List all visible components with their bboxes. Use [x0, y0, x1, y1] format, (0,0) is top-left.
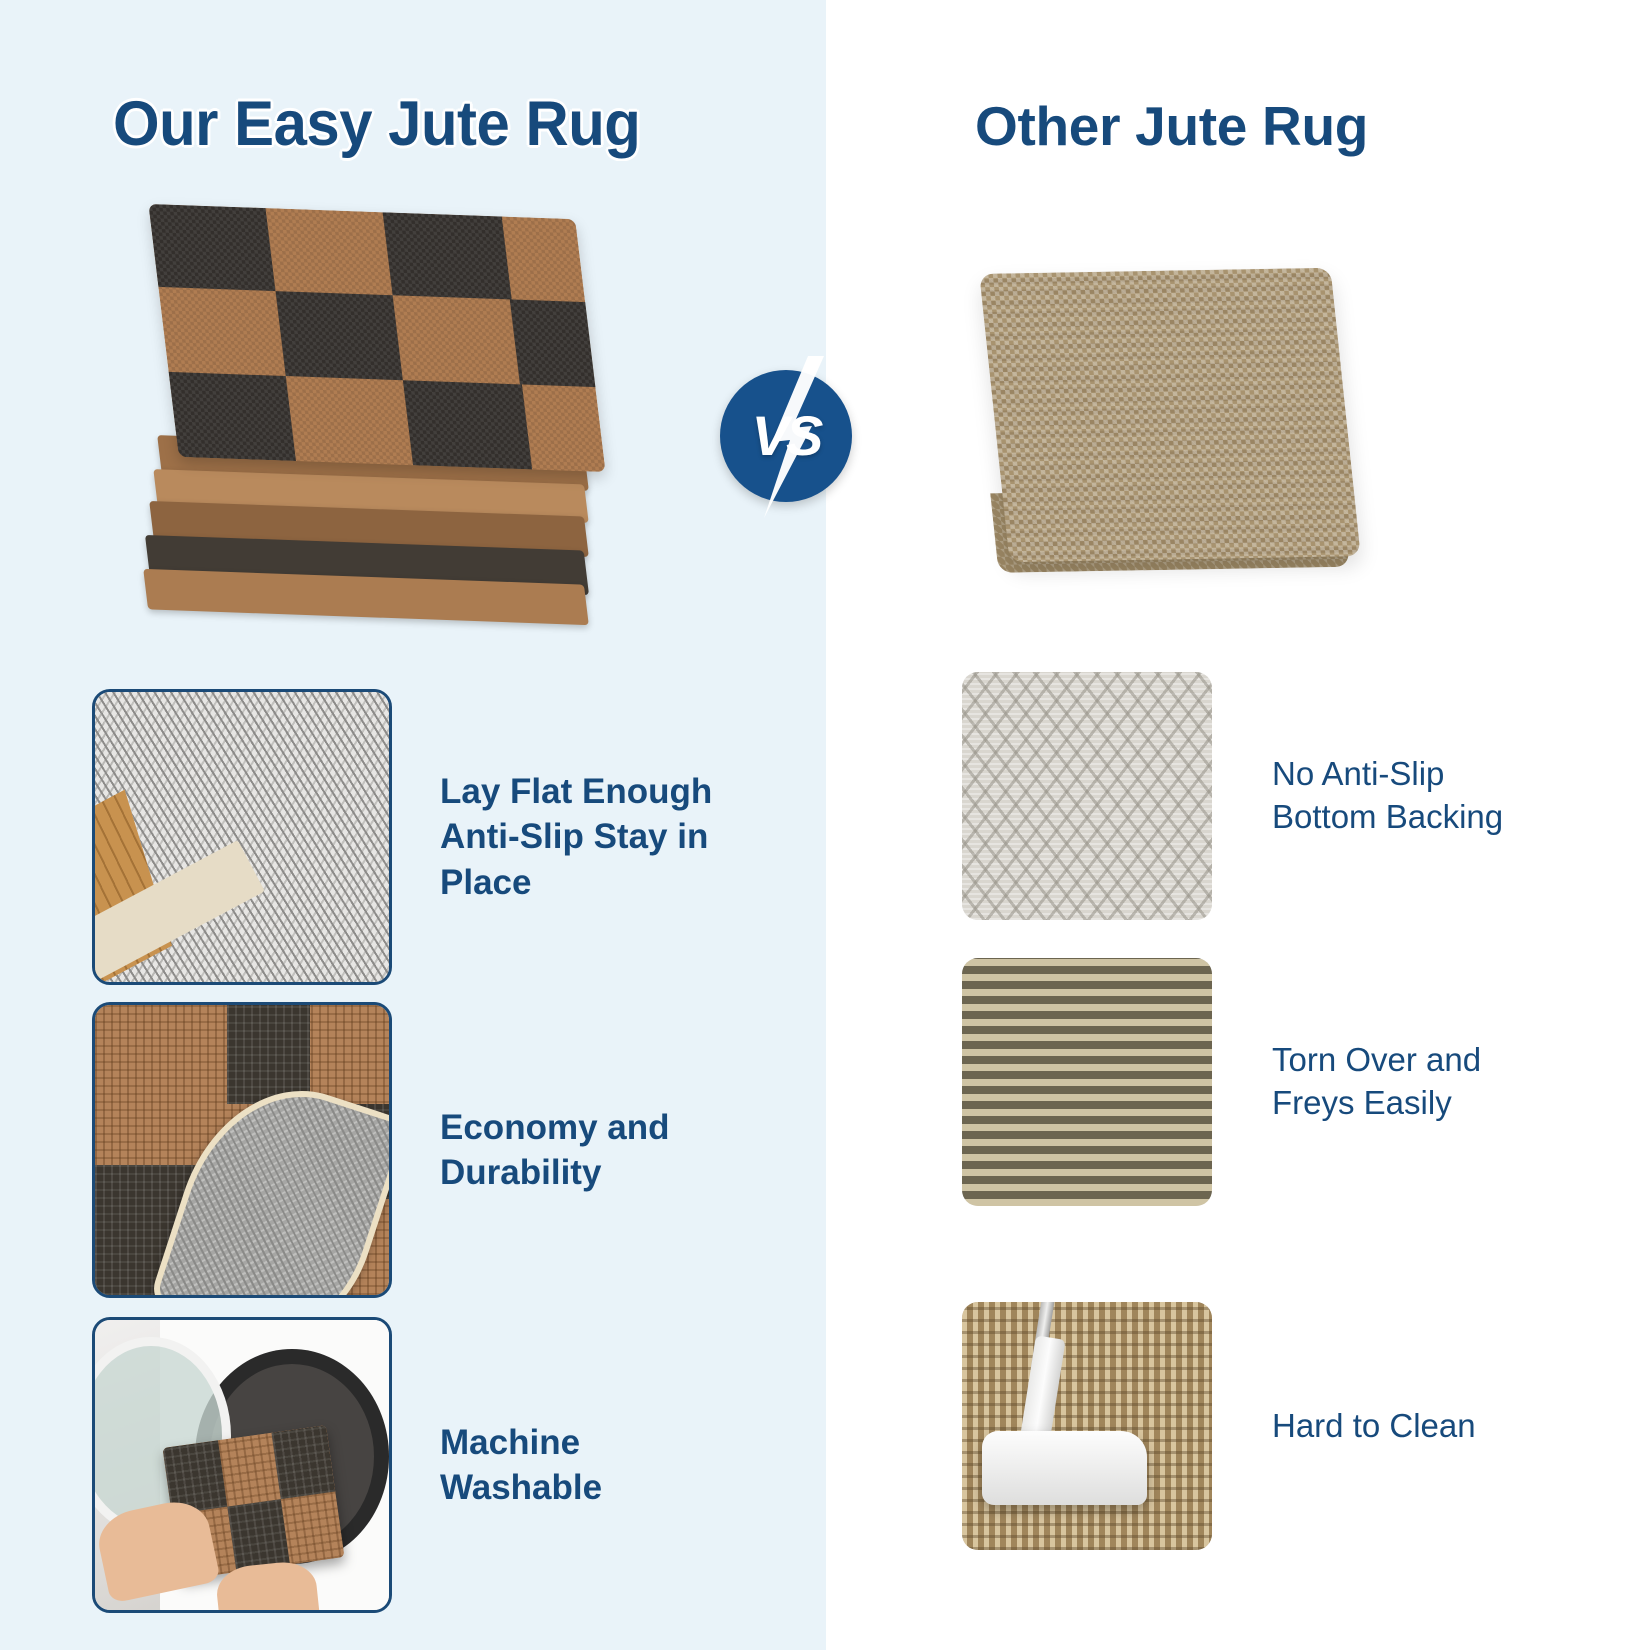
right-feature-text-3-line1: Hard to Clean — [1272, 1405, 1476, 1448]
right-feature-row-1: No Anti-Slip Bottom Backing — [962, 672, 1602, 920]
left-feature-text-3-line2: Washable — [440, 1465, 602, 1511]
right-feature-thumb-2 — [962, 958, 1212, 1206]
left-feature-thumb-3 — [92, 1317, 392, 1613]
right-feature-text-1: No Anti-Slip Bottom Backing — [1272, 753, 1503, 839]
left-feature-row-3: Machine Washable — [92, 1318, 792, 1612]
right-panel-heading: Other Jute Rug — [975, 99, 1368, 154]
right-hero-image — [955, 240, 1365, 615]
left-feature-text-3: Machine Washable — [440, 1420, 602, 1511]
left-feature-text-2-line1: Economy and — [440, 1105, 669, 1151]
vs-label: VS — [752, 408, 821, 464]
right-feature-thumb-3 — [962, 1302, 1212, 1550]
right-feature-row-3: Hard to Clean — [962, 1302, 1602, 1550]
comparison-infographic: Our Easy Jute Rug Other Jute Rug — [0, 0, 1650, 1650]
left-feature-text-3-line1: Machine — [440, 1420, 602, 1466]
right-feature-thumb-1 — [962, 672, 1212, 920]
right-feature-text-3: Hard to Clean — [1272, 1405, 1476, 1448]
left-feature-thumb-1 — [92, 689, 392, 985]
left-feature-text-1-line2: Anti-Slip Stay in Place — [440, 814, 792, 905]
left-panel-heading: Our Easy Jute Rug — [113, 93, 640, 156]
left-feature-text-2-line2: Durability — [440, 1150, 669, 1196]
left-feature-text-1: Lay Flat Enough Anti-Slip Stay in Place — [440, 769, 792, 906]
right-feature-text-1-line2: Bottom Backing — [1272, 796, 1503, 839]
right-feature-row-2: Torn Over and Freys Easily — [962, 958, 1602, 1206]
right-feature-text-2-line2: Freys Easily — [1272, 1082, 1481, 1125]
rug-top-face — [148, 204, 605, 472]
left-feature-text-2: Economy and Durability — [440, 1105, 669, 1196]
left-feature-row-1: Lay Flat Enough Anti-Slip Stay in Place — [92, 690, 792, 984]
left-feature-row-2: Economy and Durability — [92, 1003, 792, 1297]
right-feature-text-2: Torn Over and Freys Easily — [1272, 1039, 1481, 1125]
right-feature-text-1-line1: No Anti-Slip — [1272, 753, 1503, 796]
vs-badge: VS — [720, 370, 852, 502]
left-feature-text-1-line1: Lay Flat Enough — [440, 769, 792, 815]
left-hero-image — [140, 205, 630, 625]
left-feature-thumb-2 — [92, 1002, 392, 1298]
right-feature-text-2-line1: Torn Over and — [1272, 1039, 1481, 1082]
